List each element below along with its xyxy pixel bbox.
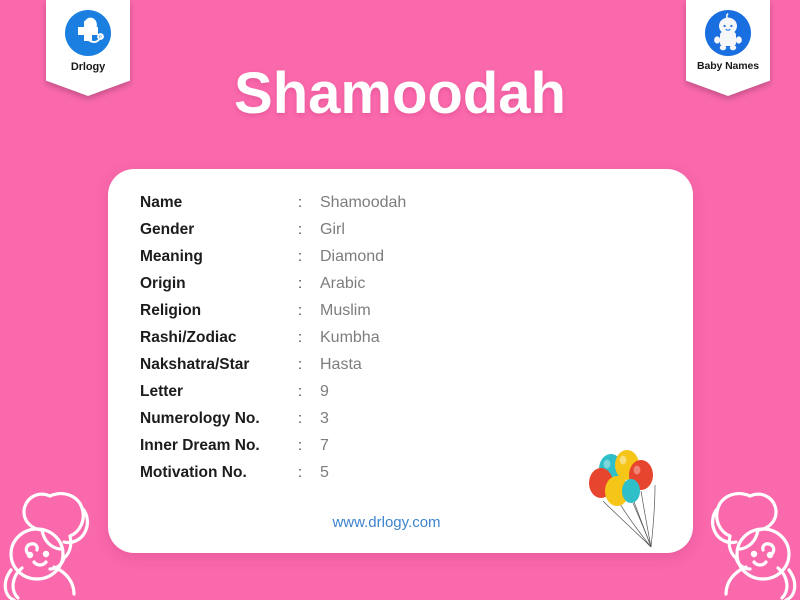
row-colon: : (298, 248, 320, 265)
name-details-card: Name : Shamoodah Gender : Girl Meaning :… (108, 169, 693, 553)
row-value: Shamoodah (320, 194, 406, 212)
row-label: Origin (140, 275, 298, 293)
row-colon: : (298, 275, 320, 292)
row-label: Numerology No. (140, 410, 298, 428)
row-value: Diamond (320, 248, 384, 266)
table-row: Nakshatra/Star : Hasta (140, 356, 406, 383)
row-colon: : (298, 464, 320, 481)
balloons-icon (589, 443, 685, 553)
row-value: Kumbha (320, 329, 380, 347)
row-colon: : (298, 194, 320, 211)
row-label: Motivation No. (140, 464, 298, 482)
row-label: Nakshatra/Star (140, 356, 298, 374)
row-value: 7 (320, 437, 329, 455)
table-row: Inner Dream No. : 7 (140, 437, 406, 464)
table-row: Origin : Arabic (140, 275, 406, 302)
svg-text:P: P (99, 34, 102, 39)
drlogy-doctor-logo-icon: P (64, 9, 112, 57)
table-row: Motivation No. : 5 (140, 464, 406, 491)
row-colon: : (298, 383, 320, 400)
table-row: Religion : Muslim (140, 302, 406, 329)
row-value: 9 (320, 383, 329, 401)
website-url[interactable]: www.drlogy.com (108, 514, 693, 531)
table-row: Numerology No. : 3 (140, 410, 406, 437)
row-colon: : (298, 410, 320, 427)
table-row: Name : Shamoodah (140, 194, 406, 221)
row-value: Girl (320, 221, 345, 239)
mother-baby-icon (678, 450, 800, 600)
row-colon: : (298, 437, 320, 454)
row-colon: : (298, 356, 320, 373)
row-label: Inner Dream No. (140, 437, 298, 455)
row-label: Rashi/Zodiac (140, 329, 298, 347)
table-row: Rashi/Zodiac : Kumbha (140, 329, 406, 356)
row-colon: : (298, 302, 320, 319)
row-label: Meaning (140, 248, 298, 266)
row-value: Muslim (320, 302, 371, 320)
row-value: 5 (320, 464, 329, 482)
row-label: Letter (140, 383, 298, 401)
row-label: Religion (140, 302, 298, 320)
row-colon: : (298, 329, 320, 346)
row-value: Arabic (320, 275, 365, 293)
page-title: Shamoodah (0, 60, 800, 127)
row-value: Hasta (320, 356, 362, 374)
mother-baby-icon (0, 450, 122, 600)
table-row: Gender : Girl (140, 221, 406, 248)
baby-logo-icon (704, 9, 752, 57)
row-label: Gender (140, 221, 298, 239)
row-colon: : (298, 221, 320, 238)
table-row: Letter : 9 (140, 383, 406, 410)
name-details-table: Name : Shamoodah Gender : Girl Meaning :… (140, 194, 406, 491)
row-value: 3 (320, 410, 329, 428)
table-row: Meaning : Diamond (140, 248, 406, 275)
row-label: Name (140, 194, 298, 212)
